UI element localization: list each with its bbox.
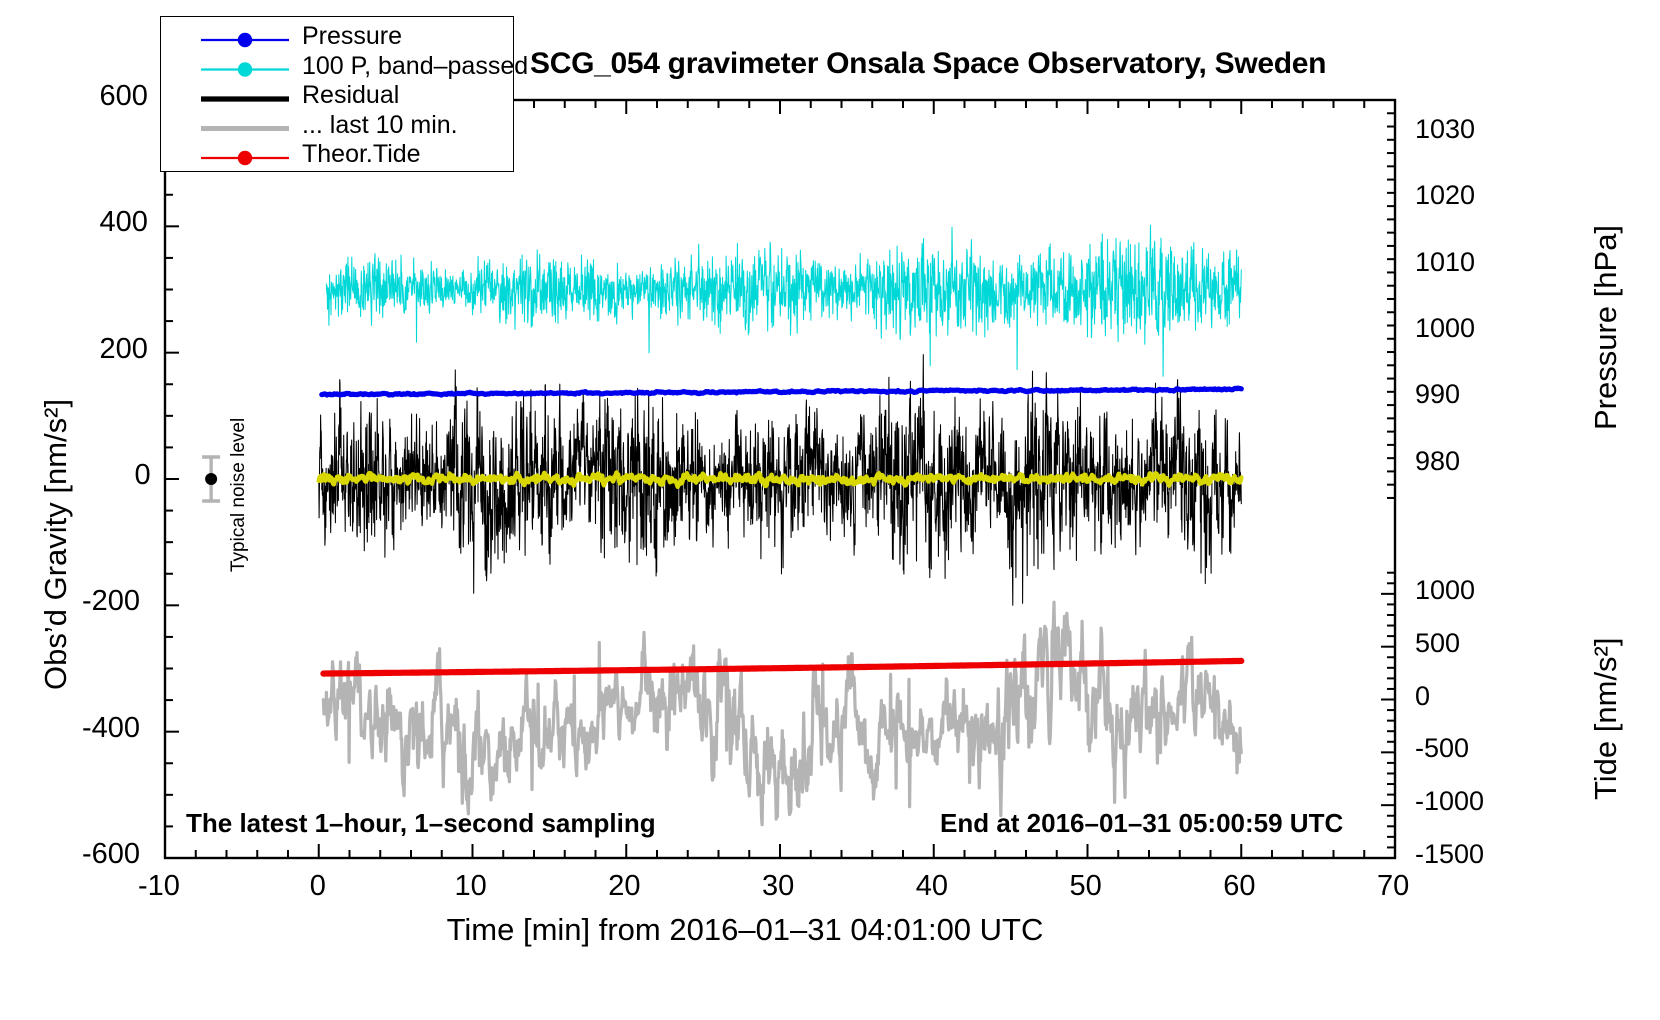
legend-item-label[interactable]: 100 P, band–passed xyxy=(302,52,528,81)
trace-bandpassed xyxy=(326,225,1241,376)
legend-swatch-marker xyxy=(238,62,252,76)
x-tick-label: 0 xyxy=(310,870,326,903)
data-traces-group xyxy=(319,225,1242,825)
y-tick-label-tide: -500 xyxy=(1415,733,1469,764)
legend-item-label[interactable]: Residual xyxy=(302,81,399,110)
noise-errorbar-dot xyxy=(205,473,217,485)
y-axis-label-right-tide: Tide [nm/s²] xyxy=(1588,638,1624,801)
legend-item-label[interactable]: Pressure xyxy=(302,22,402,51)
y-tick-label-pressure: 1010 xyxy=(1415,247,1475,278)
x-tick-label: 70 xyxy=(1377,870,1409,903)
chart-page: SCG_054 gravimeter Onsala Space Observat… xyxy=(0,0,1660,1020)
x-tick-label: -10 xyxy=(138,870,180,903)
y-axis-label-left: Obs’d Gravity [nm/s²] xyxy=(38,399,74,690)
trace-pressure xyxy=(322,388,1242,395)
legend-item-label[interactable]: Theor.Tide xyxy=(302,140,421,169)
trace-last-10-min xyxy=(323,602,1241,825)
y-tick-label-pressure: 990 xyxy=(1415,379,1460,410)
x-axis-label: Time [min] from 2016–01–31 04:01:00 UTC xyxy=(0,912,1490,948)
y-tick-label-left: -200 xyxy=(82,585,140,618)
y-tick-label-pressure: 1020 xyxy=(1415,180,1475,211)
y-tick-label-left: 0 xyxy=(135,459,151,492)
y-tick-label-pressure: 1030 xyxy=(1415,114,1475,145)
y-tick-label-pressure: 980 xyxy=(1415,446,1460,477)
legend-swatch-marker xyxy=(238,151,252,165)
y-tick-label-left: 600 xyxy=(100,80,148,113)
y-axis-label-right-pressure: Pressure [hPa] xyxy=(1588,225,1624,430)
y-tick-label-tide: 0 xyxy=(1415,681,1430,712)
y-tick-label-pressure: 1000 xyxy=(1415,313,1475,344)
y-tick-label-left: -400 xyxy=(82,712,140,745)
chart-title: SCG_054 gravimeter Onsala Space Observat… xyxy=(530,47,1326,81)
annotation-noise-level: Typical noise level xyxy=(228,418,250,572)
annotation-end-time: End at 2016–01–31 05:00:59 UTC xyxy=(940,808,1343,839)
y-tick-label-left: 400 xyxy=(100,206,148,239)
x-tick-label: 20 xyxy=(608,870,640,903)
y-tick-label-left: 200 xyxy=(100,333,148,366)
x-tick-label: 40 xyxy=(916,870,948,903)
y-tick-label-tide: 1000 xyxy=(1415,575,1475,606)
legend-swatch-marker xyxy=(238,33,252,47)
legend-item-label[interactable]: ... last 10 min. xyxy=(302,111,458,140)
x-tick-label: 60 xyxy=(1223,870,1255,903)
x-tick-label: 50 xyxy=(1070,870,1102,903)
x-tick-label: 30 xyxy=(762,870,794,903)
y-tick-label-tide: -1000 xyxy=(1415,786,1484,817)
x-tick-label: 10 xyxy=(455,870,487,903)
annotation-sampling-note: The latest 1–hour, 1–second sampling xyxy=(186,808,656,839)
y-tick-label-tide: 500 xyxy=(1415,628,1460,659)
y-tick-label-left: -600 xyxy=(82,838,140,871)
y-tick-label-tide: -1500 xyxy=(1415,839,1484,870)
plot-annotations-group xyxy=(202,457,220,501)
